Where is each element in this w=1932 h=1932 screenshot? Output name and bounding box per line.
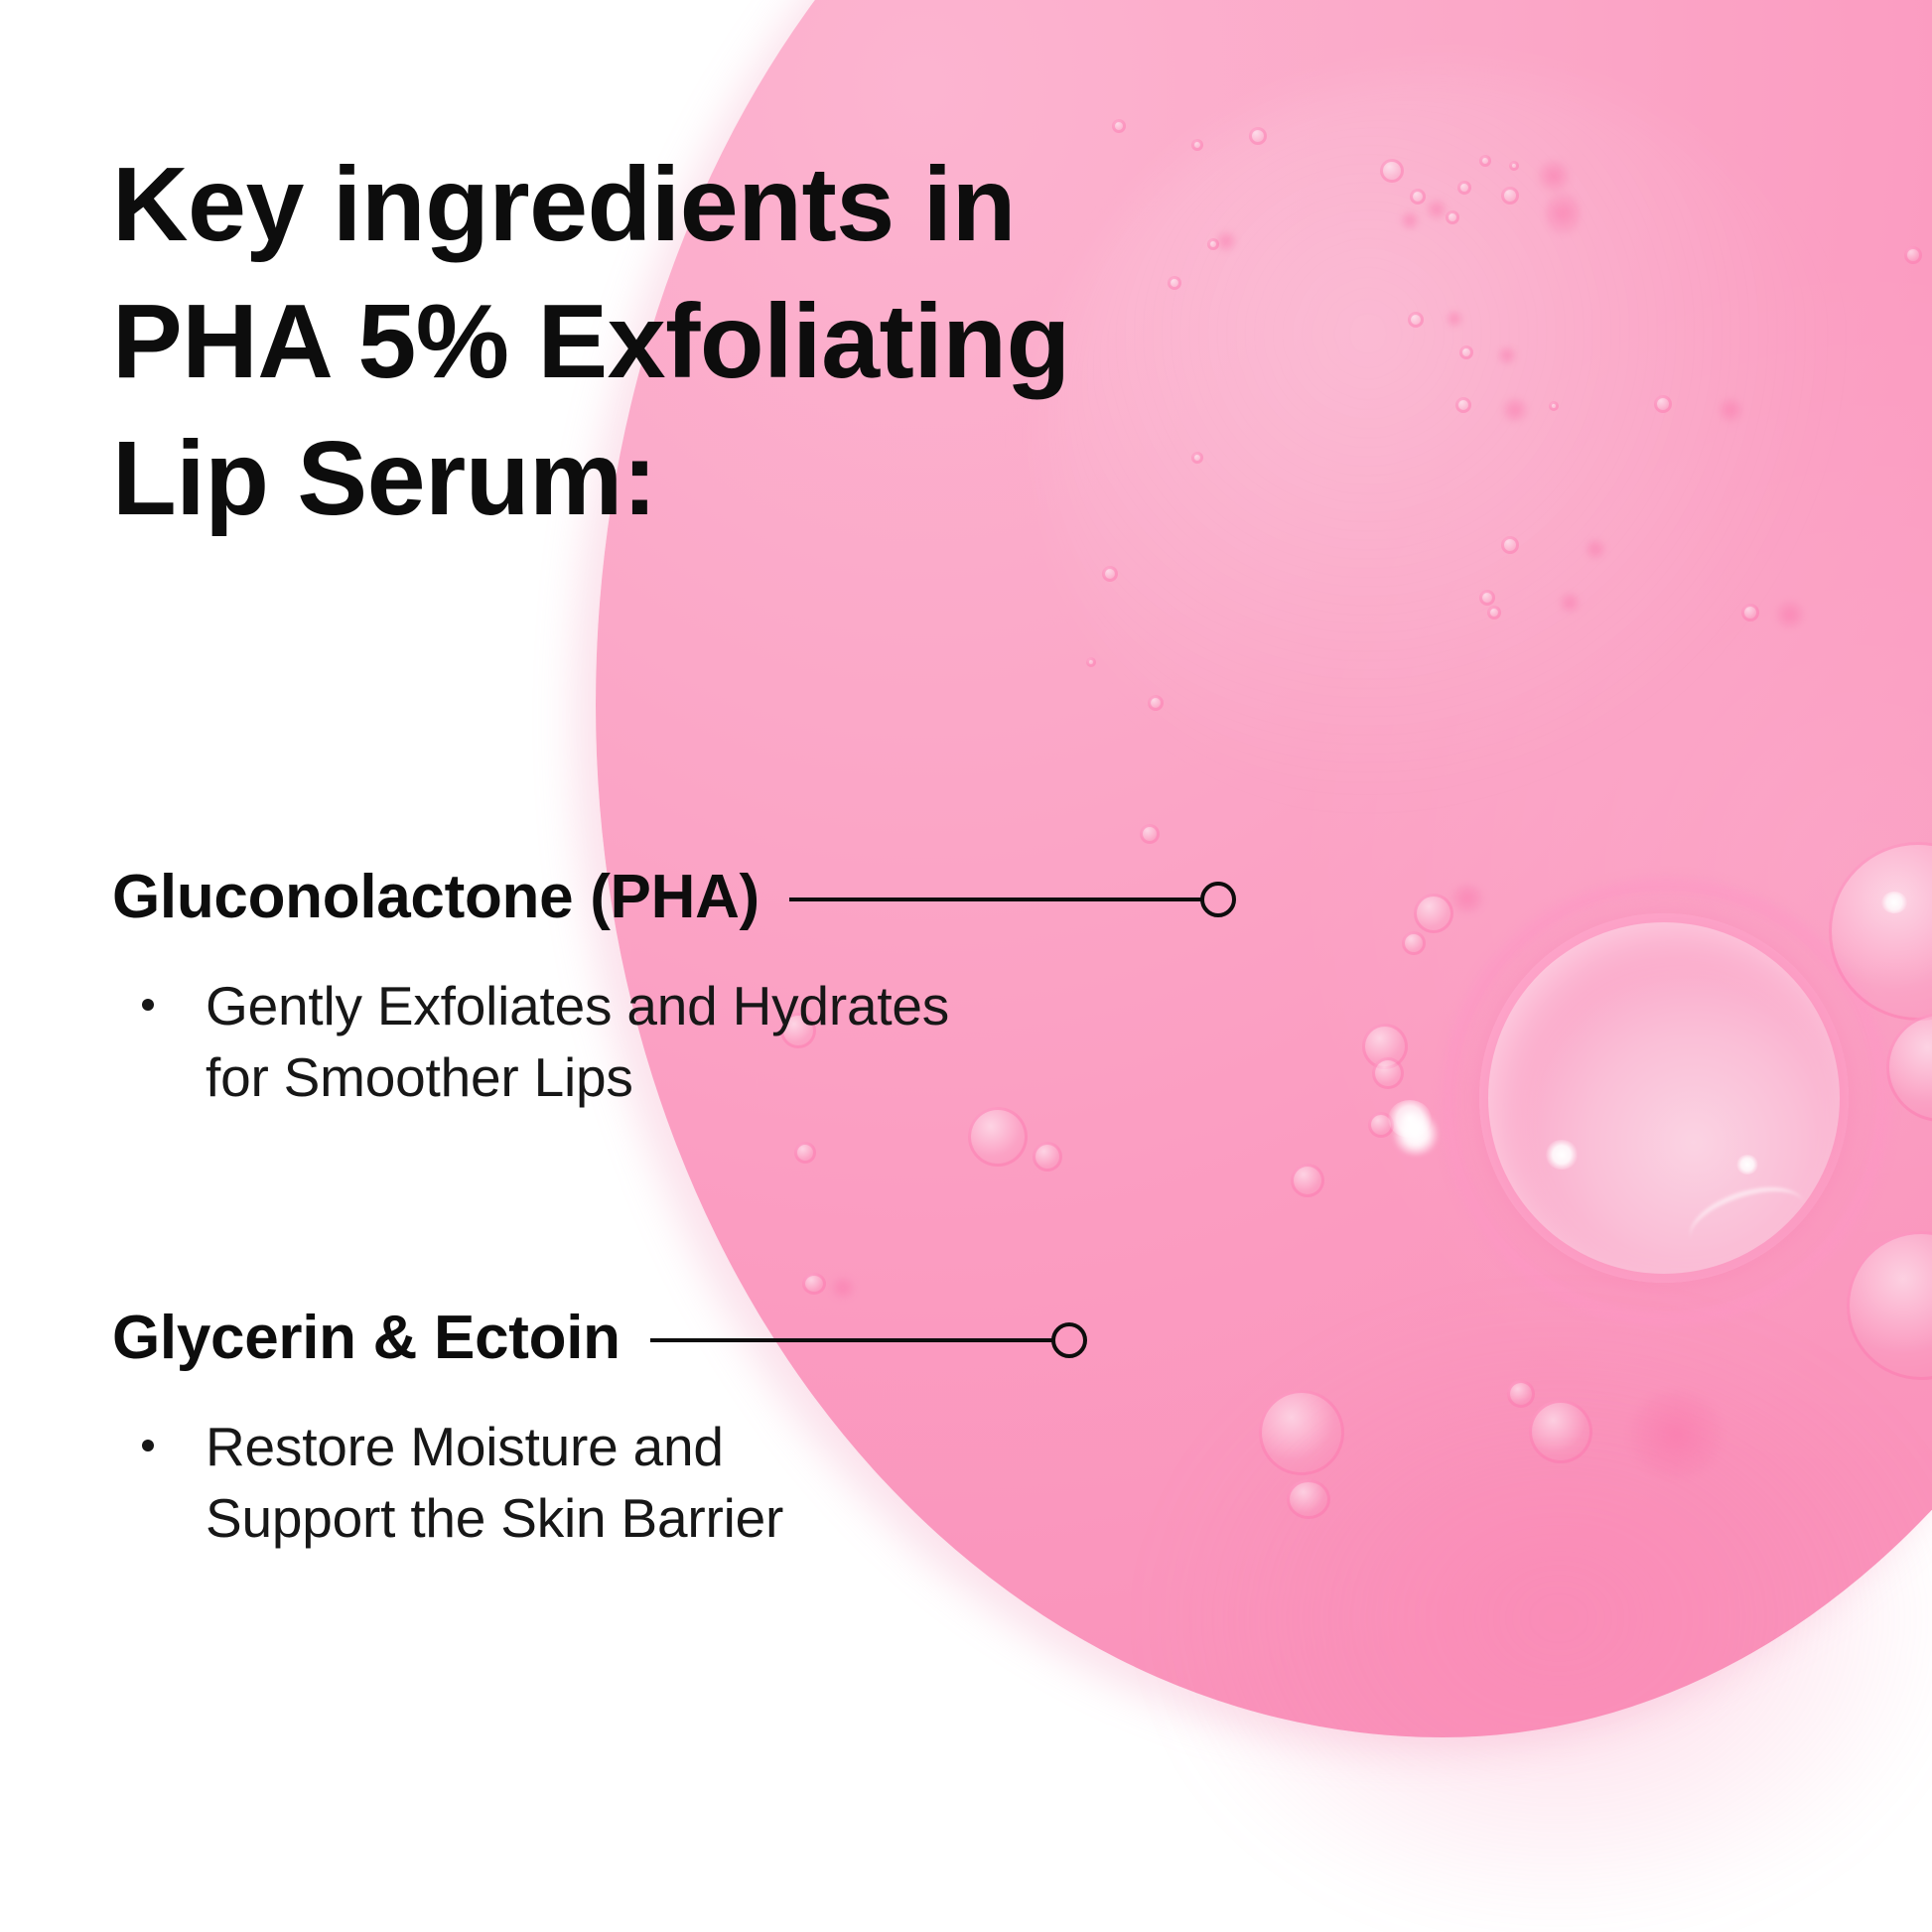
benefit-list-gluconolactone: Gently Exfoliates and Hydrates for Smoot… [142, 971, 1236, 1113]
leader-2 [650, 1322, 1087, 1358]
leader-1 [789, 882, 1236, 917]
list-item: Restore Moisture and Support the Skin Ba… [142, 1412, 1087, 1554]
ingredient-name-gluconolactone: Gluconolactone (PHA) [112, 867, 759, 928]
product-ingredient-infographic: Key ingredients in PHA 5% Exfoliating Li… [0, 0, 1932, 1932]
page-title: Key ingredients in PHA 5% Exfoliating Li… [112, 137, 1070, 547]
text-content: Key ingredients in PHA 5% Exfoliating Li… [0, 0, 1932, 1932]
ingredient-block-glycerin-ectoin: Glycerin & Ectoin Restore Moisture and S… [112, 1303, 1087, 1554]
ingredient-heading-row: Gluconolactone (PHA) [112, 862, 1236, 933]
bullet-dot-icon [142, 999, 154, 1011]
bullet-dot-icon [142, 1440, 154, 1451]
leader-line-icon [650, 1338, 1052, 1342]
leader-endpoint-circle-icon [1051, 1322, 1087, 1358]
list-item: Gently Exfoliates and Hydrates for Smoot… [142, 971, 1236, 1113]
ingredient-block-gluconolactone: Gluconolactone (PHA) Gently Exfoliates a… [112, 862, 1236, 1113]
ingredient-heading-row: Glycerin & Ectoin [112, 1303, 1087, 1374]
benefit-list-glycerin-ectoin: Restore Moisture and Support the Skin Ba… [142, 1412, 1087, 1554]
leader-endpoint-circle-icon [1200, 882, 1236, 917]
leader-line-icon [789, 897, 1201, 901]
benefit-text-glycerin-ectoin: Restore Moisture and Support the Skin Ba… [206, 1412, 783, 1554]
benefit-text-gluconolactone: Gently Exfoliates and Hydrates for Smoot… [206, 971, 949, 1113]
ingredient-name-glycerin-ectoin: Glycerin & Ectoin [112, 1308, 621, 1369]
